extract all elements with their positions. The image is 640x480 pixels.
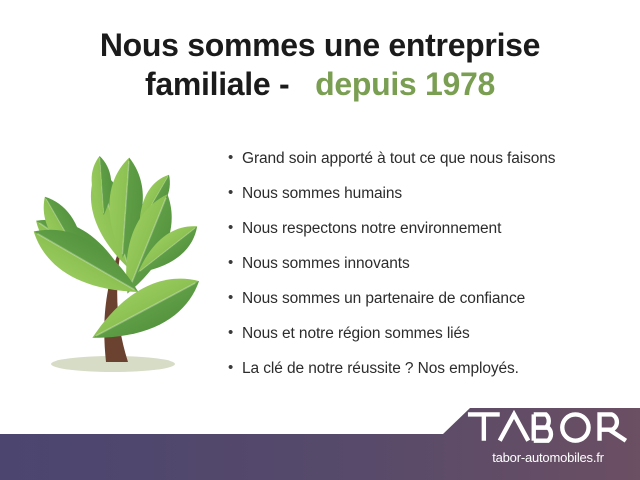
list-item: • Nous sommes humains <box>228 185 628 220</box>
footer-bar-shape <box>0 408 640 480</box>
list-item-label: Nous sommes humains <box>242 185 402 203</box>
list-item: • Nous sommes un partenaire de confiance <box>228 290 628 325</box>
list-item: • La clé de notre réussite ? Nos employé… <box>228 360 628 395</box>
footer-bar: tabor-automobiles.fr <box>0 400 640 480</box>
bullet-marker-icon: • <box>228 325 242 340</box>
list-item-label: La clé de notre réussite ? Nos employés. <box>242 360 519 378</box>
bullet-marker-icon: • <box>228 220 242 235</box>
title-line-2-accent: depuis 1978 <box>315 66 495 102</box>
title-line-2-plain: familiale - <box>145 66 289 102</box>
title-line-2: familiale - depuis 1978 <box>0 65 640 104</box>
list-item-label: Nous et notre région sommes liés <box>242 325 470 343</box>
page-title: Nous sommes une entreprise familiale - d… <box>0 26 640 104</box>
bullet-marker-icon: • <box>228 255 242 270</box>
list-item-label: Nous sommes un partenaire de confiance <box>242 290 525 308</box>
bullet-marker-icon: • <box>228 185 242 200</box>
list-item: • Nous et notre région sommes liés <box>228 325 628 360</box>
list-item: • Grand soin apporté à tout ce que nous … <box>228 150 628 185</box>
bullet-marker-icon: • <box>228 150 242 165</box>
bullet-list: • Grand soin apporté à tout ce que nous … <box>228 150 628 395</box>
bullet-marker-icon: • <box>228 290 242 305</box>
bullet-marker-icon: • <box>228 360 242 375</box>
tree-illustration <box>10 148 220 392</box>
title-line-1: Nous sommes une entreprise <box>0 26 640 65</box>
list-item: • Nous respectons notre environnement <box>228 220 628 255</box>
slide-canvas: Nous sommes une entreprise familiale - d… <box>0 0 640 480</box>
list-item: • Nous sommes innovants <box>228 255 628 290</box>
list-item-label: Nous respectons notre environnement <box>242 220 501 238</box>
list-item-label: Nous sommes innovants <box>242 255 410 273</box>
list-item-label: Grand soin apporté à tout ce que nous fa… <box>242 150 555 168</box>
